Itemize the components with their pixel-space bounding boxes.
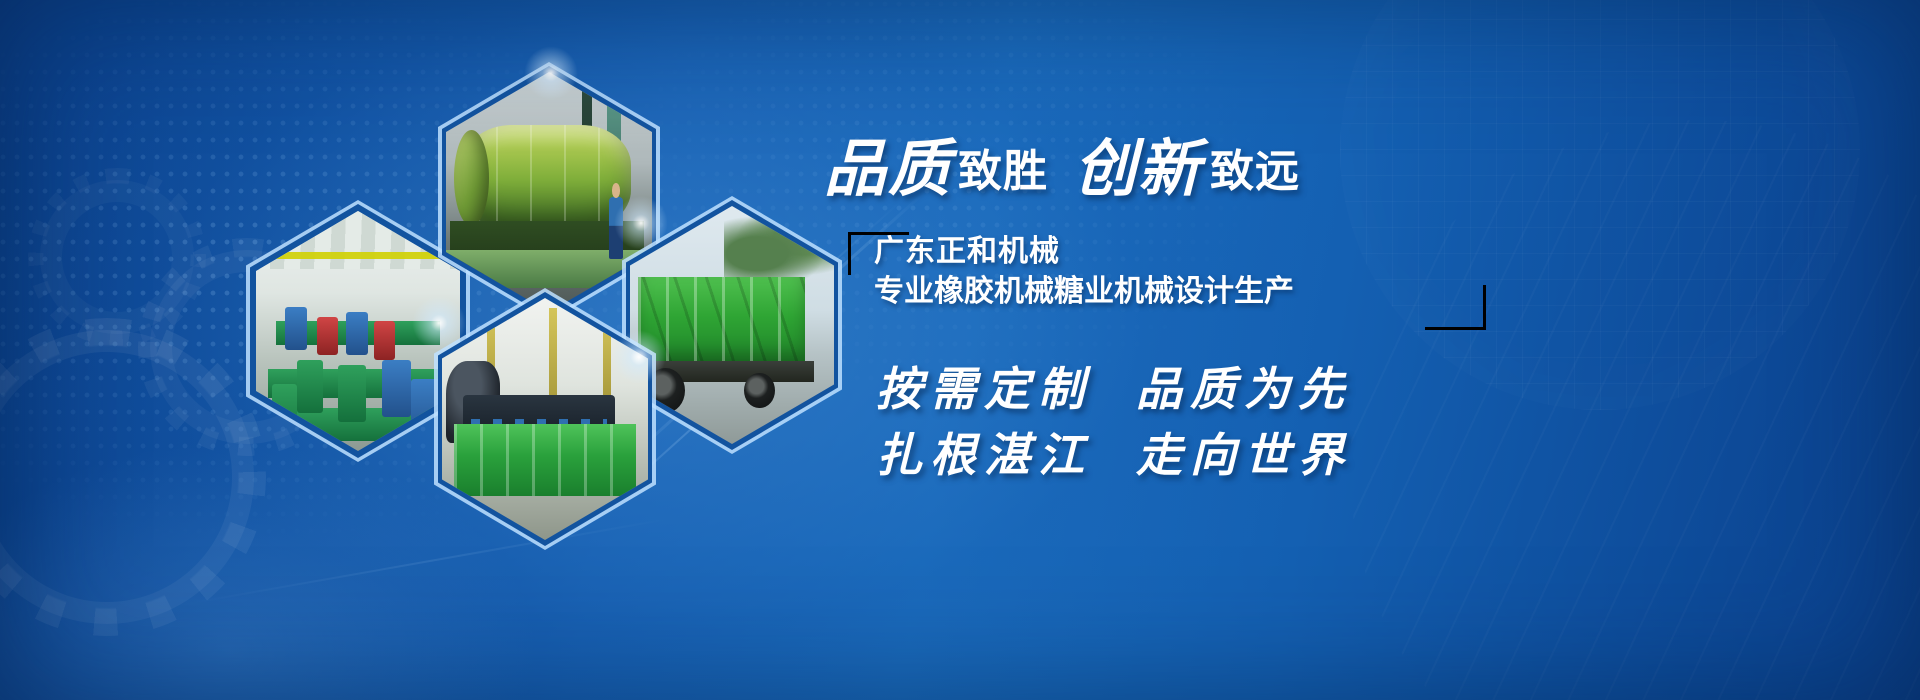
company-business-scope: 专业橡胶机械糖业机械设计生产 [874,272,1318,312]
slogan-1-left: 按需定制 [876,362,1092,416]
headline-part-2-tail: 致远 [1210,147,1300,196]
hex-photo-conveyor-trough [434,288,656,550]
slogan-2-left: 扎根湛江 [876,428,1092,482]
company-name: 广东正和机械 [874,232,1318,272]
subtitle-block: 广东正和机械 专业橡胶机械糖业机械设计生产 [848,232,1318,324]
headline-part-1-tail: 致胜 [958,147,1048,196]
slogan-list: 按需定制品质为先 扎根湛江走向世界 [876,356,1396,488]
slogan-row-1: 按需定制品质为先 [876,356,1396,422]
promotional-banner: 品质致胜创新致远 广东正和机械 专业橡胶机械糖业机械设计生产 按需定制品质为先 … [0,0,1920,700]
bracket-corner-top-left-icon [848,232,909,275]
slogan-1-right: 品质为先 [1136,362,1352,416]
slogan-row-2: 扎根湛江走向世界 [876,422,1396,488]
slogan-2-right: 走向世界 [1136,428,1352,482]
headline-part-2-emphasis: 创新 [1074,132,1202,205]
headline-part-1-emphasis: 品质 [824,132,952,205]
headline: 品质致胜创新致远 [824,118,1384,210]
bracket-corner-bottom-right-icon [1425,285,1486,330]
